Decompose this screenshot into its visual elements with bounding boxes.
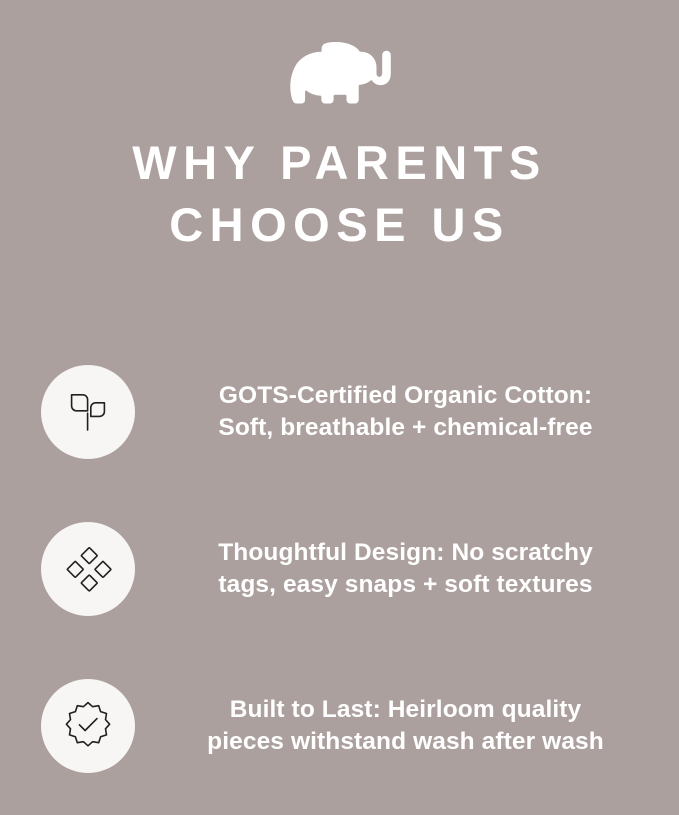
- page-title: WHY PARENTS CHOOSE US: [40, 132, 640, 256]
- page-title-line-1: WHY PARENTS: [40, 132, 640, 194]
- feature-list: GOTS-Certified Organic Cotton: Soft, bre…: [0, 334, 679, 805]
- feature-icon-badge: [41, 679, 135, 773]
- feature-text: Built to Last: Heirloom quality pieces w…: [135, 694, 679, 758]
- rosette-check-badge-icon: [62, 700, 114, 752]
- feature-item-built-to-last: Built to Last: Heirloom quality pieces w…: [0, 648, 679, 805]
- page-title-line-2: CHOOSE US: [40, 194, 640, 256]
- feature-text-line-2: pieces withstand wash after wash: [174, 726, 637, 758]
- sprout-icon: [62, 386, 114, 438]
- feature-icon-badge: [41, 522, 135, 616]
- feature-icon-badge: [41, 365, 135, 459]
- feature-item-thoughtful-design: Thoughtful Design: No scratchy tags, eas…: [0, 491, 679, 648]
- feature-text: Thoughtful Design: No scratchy tags, eas…: [135, 537, 679, 601]
- why-parents-choose-us-poster: WHY PARENTS CHOOSE US GOTS-Certified Org: [0, 0, 679, 815]
- elephant-icon: [288, 41, 392, 107]
- feature-text: GOTS-Certified Organic Cotton: Soft, bre…: [135, 380, 679, 444]
- feature-item-organic-cotton: GOTS-Certified Organic Cotton: Soft, bre…: [0, 334, 679, 491]
- brand-logo: [280, 38, 400, 110]
- four-diamonds-snap-icon: [62, 543, 114, 595]
- feature-text-line-1: Built to Last: Heirloom quality: [174, 694, 637, 726]
- feature-text-line-1: GOTS-Certified Organic Cotton:: [174, 380, 637, 412]
- feature-text-line-2: Soft, breathable + chemical-free: [174, 412, 637, 444]
- feature-text-line-2: tags, easy snaps + soft textures: [174, 569, 637, 601]
- feature-text-line-1: Thoughtful Design: No scratchy: [174, 537, 637, 569]
